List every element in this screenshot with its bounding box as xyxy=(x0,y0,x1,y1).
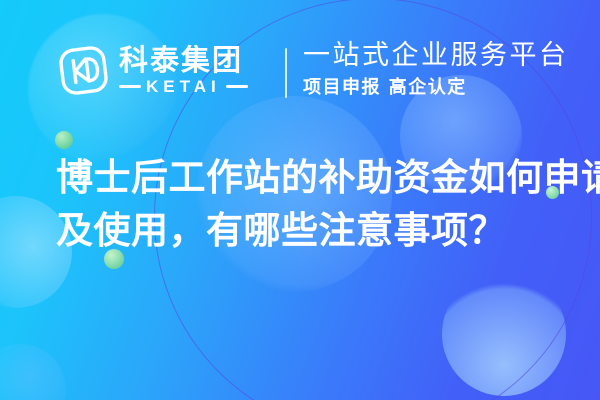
brand-name-cn: 科泰集团 xyxy=(119,46,248,75)
header-divider xyxy=(285,48,287,98)
headline-line-1: 博士后工作站的补助资金如何申请 xyxy=(56,152,576,205)
banner-header: 科泰集团 KETAI 一站式企业服务平台 项目申报 高企认定 xyxy=(0,0,600,120)
brand-name-en: KETAI xyxy=(146,78,221,95)
decorative-circle-bottom-left xyxy=(0,344,66,400)
wordmark-rule-left xyxy=(119,85,141,88)
ketai-monogram-icon xyxy=(57,44,110,97)
promo-banner: 科泰集团 KETAI 一站式企业服务平台 项目申报 高企认定 博士后工作站的补助… xyxy=(0,0,600,400)
brand-wordmark: 科泰集团 KETAI xyxy=(119,46,248,95)
slogan-primary: 一站式企业服务平台 xyxy=(303,40,569,71)
decorative-dot-green-upper-left xyxy=(55,131,73,149)
headline-line-2: 及使用，有哪些注意事项？ xyxy=(56,205,576,258)
slogan-block: 一站式企业服务平台 项目申报 高企认定 xyxy=(303,40,569,99)
slogan-secondary: 项目申报 高企认定 xyxy=(303,78,569,99)
brand-name-en-row: KETAI xyxy=(119,78,248,95)
brand-logo[interactable]: 科泰集团 KETAI xyxy=(57,44,248,97)
wordmark-rule-right xyxy=(226,85,248,88)
decorative-circle-bottom-right xyxy=(442,272,566,396)
headline-block: 博士后工作站的补助资金如何申请 及使用，有哪些注意事项？ xyxy=(56,152,576,257)
